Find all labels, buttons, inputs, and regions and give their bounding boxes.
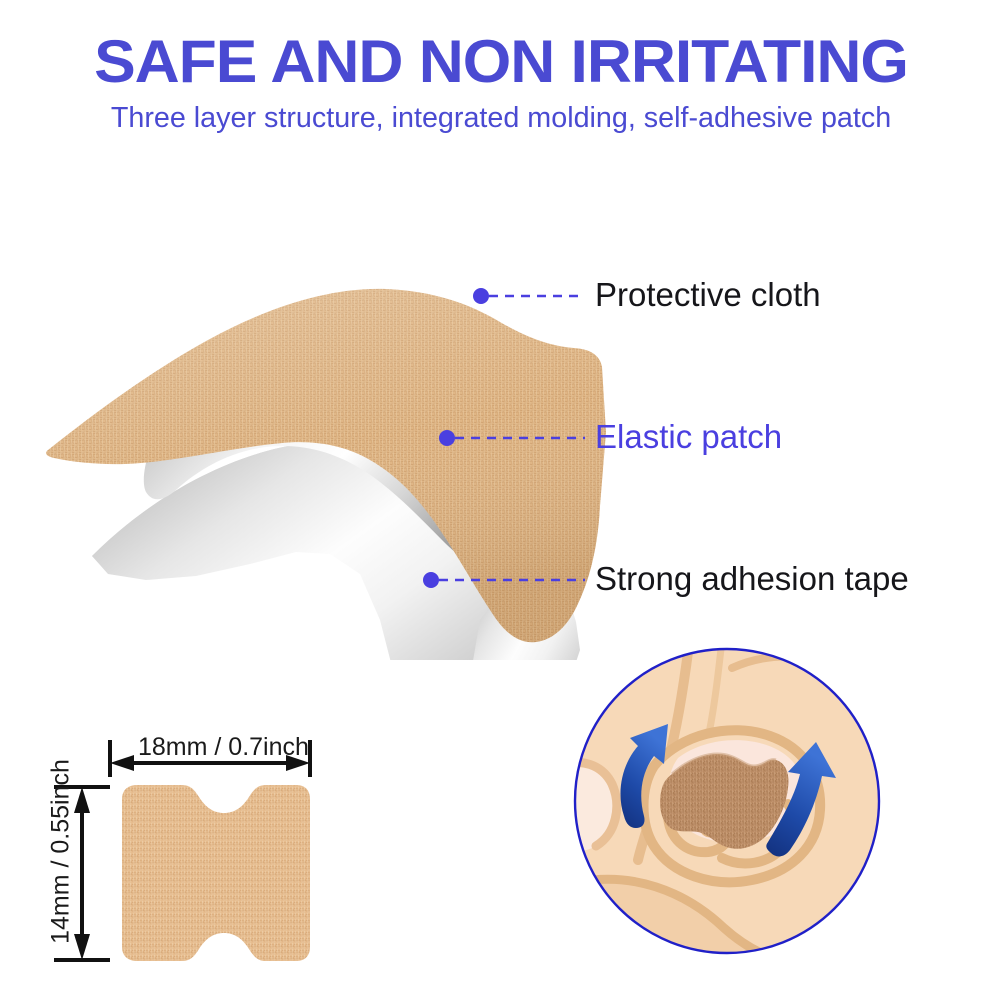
infographic-page: SAFE AND NON IRRITATING Three layer stru…: [0, 0, 1002, 1002]
dimension-width-label: 18mm / 0.7inch: [138, 733, 309, 762]
leader-protective-cloth: [473, 288, 585, 304]
patch-swatch: [122, 785, 310, 961]
callout-label-elastic-patch: Elastic patch: [595, 420, 782, 453]
application-illustration: [572, 646, 882, 956]
page-title: SAFE AND NON IRRITATING: [0, 0, 1002, 94]
callout-label-protective-cloth: Protective cloth: [595, 278, 821, 311]
dimension-diagram: 18mm / 0.7inch 14mm / 0.55inch: [18, 715, 348, 980]
dimension-height-label: 14mm / 0.55inch: [47, 757, 76, 947]
nose-application-graphics: [572, 646, 882, 956]
callout-label-strong-adhesion-tape: Strong adhesion tape: [595, 562, 909, 595]
header-block: SAFE AND NON IRRITATING Three layer stru…: [0, 0, 1002, 135]
page-subtitle: Three layer structure, integrated moldin…: [5, 94, 997, 135]
